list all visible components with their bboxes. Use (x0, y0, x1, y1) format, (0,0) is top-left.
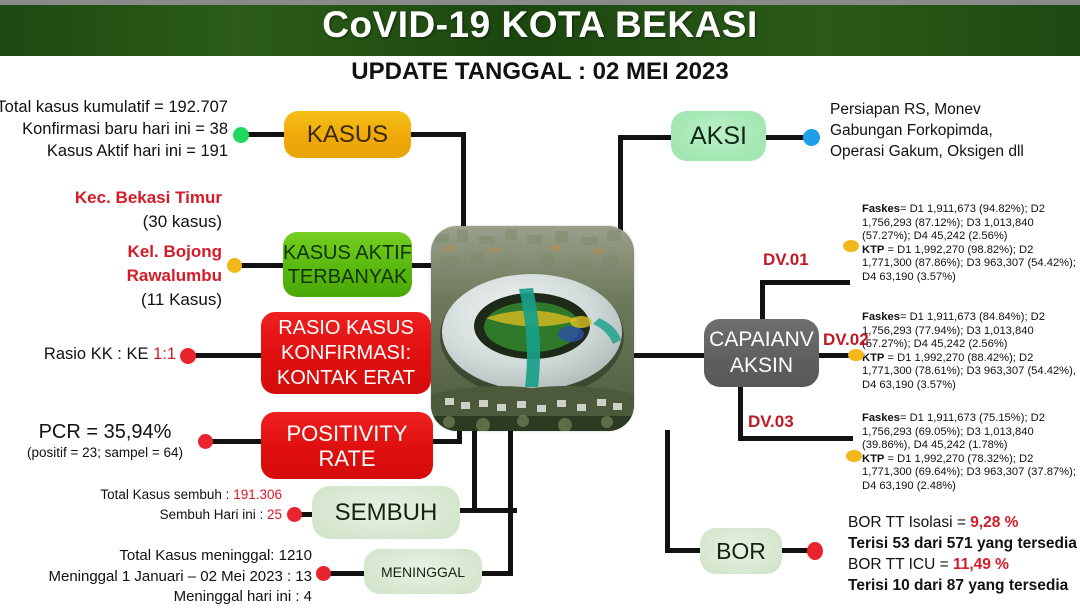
dv02-label: DV.02 (823, 330, 869, 350)
dv01-faskes-row: Faskes= D1 1,911,673 (94.82%); D2 1,756,… (862, 203, 1080, 244)
node-meninggal[interactable]: MENINGGAL (364, 549, 482, 594)
node-kasus-aktif-terbanyak[interactable]: KASUS AKTIF TERBANYAK (283, 232, 412, 297)
connector-kasus-right (410, 132, 466, 137)
dv03-ktp-label: KTP (862, 453, 884, 465)
connector-kasus-vert (461, 132, 466, 232)
node-rasio-line2: KONFIRMASI: (281, 341, 411, 366)
aksi-stats: Persiapan RS, Monev Gabungan Forkopimda,… (830, 99, 1080, 162)
page-title: CoVID-19 KOTA BEKASI (0, 3, 1080, 47)
connector-aktif-left (240, 263, 284, 268)
dot-meninggal (316, 566, 331, 581)
connector-bor-vert (665, 430, 670, 550)
node-kasus[interactable]: KASUS (284, 111, 411, 158)
connector-dv03-vert (738, 386, 743, 440)
bor-icu-detail: Terisi 10 dari 87 yang tersedia (848, 575, 1080, 596)
node-capaian-vaksin[interactable]: CAPAIANV AKSIN (704, 319, 819, 387)
meninggal-total: Total Kasus meninggal: 1210 (16, 546, 312, 567)
dot-kasus (233, 127, 249, 143)
node-positivity-line2: RATE (318, 446, 375, 471)
sembuh-today-value: 25 (267, 507, 282, 522)
node-meninggal-label: MENINGGAL (381, 564, 465, 580)
connector-dv03-horiz (738, 436, 853, 441)
node-rasio-kasus[interactable]: RASIO KASUS KONFIRMASI: KONTAK ERAT (261, 312, 431, 394)
kasus-aktif-kelurahan-line2: Rawalumbu (20, 264, 222, 288)
kasus-aktif-kecamatan: Kec. Bekasi Timur (20, 186, 222, 210)
dv01-ktp-label: KTP (862, 244, 884, 256)
connector-aksi-horiz (618, 135, 676, 140)
sembuh-total-row: Total Kasus sembuh : 191.306 (36, 485, 282, 505)
dv01-ktp-text: = D1 1,992,270 (98.82%); D2 1,771,300 (8… (862, 244, 1076, 283)
dv03-label: DV.03 (748, 412, 794, 432)
kasus-stats: Total kasus kumulatif = 192.707 Konfirma… (0, 96, 228, 162)
connector-aksi-vert (618, 135, 623, 233)
dot-sembuh (287, 507, 302, 522)
node-kasus-aktif-line2: TERBANYAK (288, 265, 408, 289)
dot-bor (807, 542, 823, 560)
dot-dv01 (843, 240, 859, 252)
sembuh-total-label: Total Kasus sembuh : (100, 487, 233, 502)
rasio-stats: Rasio KK : KE 1:1 (20, 343, 176, 365)
kasus-stat-aktif: Kasus Aktif hari ini = 191 (0, 140, 228, 162)
dv03-detail: Faskes= D1 1,911,673 (75.15%); D2 1,756,… (862, 412, 1080, 494)
bor-icu-value: 11,49 % (953, 556, 1009, 573)
aksi-line1: Persiapan RS, Monev (830, 99, 1080, 120)
connector-sembuh-vert (472, 430, 477, 512)
bor-stats: BOR TT Isolasi = 9,28 % Terisi 53 dari 5… (848, 512, 1080, 596)
node-aksi[interactable]: AKSI (671, 111, 766, 161)
kasus-stat-kumulatif: Total kasus kumulatif = 192.707 (0, 96, 228, 118)
rasio-stats-prefix: Rasio KK : KE (44, 345, 149, 363)
dv02-detail: Faskes= D1 1,911,673 (84.84%); D2 1,756,… (862, 311, 1080, 393)
node-capaian-vaksin-line2: AKSIN (730, 353, 793, 379)
dv01-ktp-row: KTP = D1 1,992,270 (98.82%); D2 1,771,30… (862, 244, 1080, 285)
bor-isolasi-value: 9,28 % (970, 514, 1018, 531)
node-bor[interactable]: BOR (700, 528, 782, 574)
node-positivity-line1: POSITIVITY (286, 421, 407, 446)
dv01-label: DV.01 (763, 250, 809, 270)
node-kasus-aktif-line1: KASUS AKTIF (283, 241, 412, 265)
update-date-subtitle: UPDATE TANGGAL : 02 MEI 2023 (0, 58, 1080, 86)
bor-isolasi-row: BOR TT Isolasi = 9,28 % (848, 512, 1080, 533)
dv03-ktp-text: = D1 1,992,270 (78.32%); D2 1,771,300 (6… (862, 453, 1076, 492)
sembuh-total-value: 191.306 (233, 487, 282, 502)
node-kasus-label: KASUS (307, 121, 388, 149)
dv03-faskes-row: Faskes= D1 1,911,673 (75.15%); D2 1,756,… (862, 412, 1080, 453)
rasio-stats-value: 1:1 (153, 345, 176, 363)
node-aksi-label: AKSI (690, 122, 747, 151)
aksi-line2: Gabungan Forkopimda, (830, 120, 1080, 141)
node-capaian-vaksin-line1: CAPAIANV (709, 327, 814, 353)
connector-vaksin-trunk (633, 353, 708, 358)
meninggal-range: Meninggal 1 Januari – 02 Mei 2023 : 13 (16, 567, 312, 588)
sembuh-today-row: Sembuh Hari ini : 25 (36, 505, 282, 525)
positivity-sample-detail: (positif = 23; sampel = 64) (16, 444, 194, 462)
node-positivity-rate[interactable]: POSITIVITY RATE (261, 412, 433, 479)
connector-rasio-left (194, 353, 264, 358)
bor-isolasi-label: BOR TT Isolasi = (848, 514, 970, 531)
connector-meninggal-vert (508, 430, 513, 576)
positivity-pcr-value: 35,94% (104, 421, 172, 443)
kasus-aktif-kecamatan-count: (30 kasus) (20, 210, 222, 234)
dot-positivity (198, 434, 213, 449)
node-sembuh[interactable]: SEMBUH (312, 486, 460, 539)
sembuh-stats: Total Kasus sembuh : 191.306 Sembuh Hari… (36, 485, 282, 525)
node-bor-label: BOR (716, 538, 766, 565)
positivity-stats: PCR = 35,94% (positif = 23; sampel = 64) (16, 420, 194, 462)
dot-rasio (180, 348, 196, 364)
meninggal-stats: Total Kasus meninggal: 1210 Meninggal 1 … (16, 546, 312, 608)
dv02-ktp-text: = D1 1,992,270 (88.42%); D2 1,771,300 (7… (862, 352, 1076, 391)
bor-icu-row: BOR TT ICU = 11,49 % (848, 554, 1080, 575)
bor-isolasi-detail: Terisi 53 dari 571 yang tersedia (848, 533, 1080, 554)
positivity-pcr-label: PCR = (39, 421, 104, 443)
dot-dv02 (848, 349, 864, 361)
dot-aksi (803, 129, 820, 146)
dv02-ktp-label: KTP (862, 352, 884, 364)
aksi-line3: Operasi Gakum, Oksigen dll (830, 141, 1080, 162)
connector-kasus-left (247, 132, 287, 137)
dv01-faskes-label: Faskes (862, 203, 900, 215)
kasus-aktif-kelurahan-line1: Kel. Bojong (20, 240, 222, 264)
node-rasio-line3: KONTAK ERAT (277, 366, 415, 391)
dv01-detail: Faskes= D1 1,911,673 (94.82%); D2 1,756,… (862, 203, 1080, 285)
connector-positivity-left (211, 439, 263, 444)
node-sembuh-label: SEMBUH (335, 499, 438, 527)
kasus-stat-konfirmasi-baru: Konfirmasi baru hari ini = 38 (0, 118, 228, 140)
dv02-faskes-row: Faskes= D1 1,911,673 (84.84%); D2 1,756,… (862, 311, 1080, 352)
dot-kasus-aktif (227, 258, 242, 273)
connector-dv01-horiz (760, 280, 850, 285)
kasus-aktif-kelurahan-count: (11 Kasus) (20, 288, 222, 312)
dv02-ktp-row: KTP = D1 1,992,270 (88.42%); D2 1,771,30… (862, 352, 1080, 393)
bor-icu-label: BOR TT ICU = (848, 556, 953, 573)
dv03-faskes-label: Faskes (862, 412, 900, 424)
connector-dv01-vert (760, 280, 765, 322)
sembuh-today-label: Sembuh Hari ini : (160, 507, 267, 522)
kasus-aktif-stats: Kec. Bekasi Timur (30 kasus) Kel. Bojong… (20, 186, 222, 312)
node-rasio-line1: RASIO KASUS (278, 316, 414, 341)
dv03-ktp-row: KTP = D1 1,992,270 (78.32%); D2 1,771,30… (862, 453, 1080, 494)
dot-dv03 (846, 450, 862, 462)
stadion-patriot-bekasi-photo (431, 226, 634, 431)
infographic-canvas: CoVID-19 KOTA BEKASI UPDATE TANGGAL : 02… (0, 0, 1080, 608)
meninggal-today: Meninggal hari ini : 4 (16, 587, 312, 608)
dv02-faskes-label: Faskes (862, 311, 900, 323)
